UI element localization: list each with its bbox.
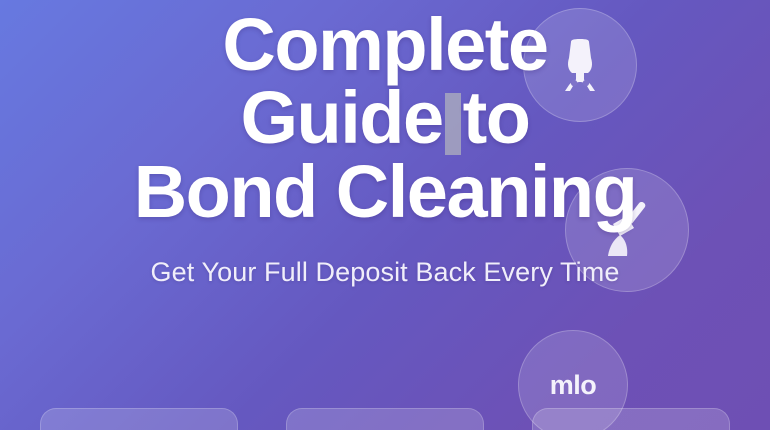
feature-card[interactable]: State-by- (40, 408, 238, 430)
text-caret (445, 93, 461, 155)
page-title-line-1: Complete (0, 8, 770, 81)
feature-card-list: State-by- Step-by- Pro (0, 408, 770, 430)
hero-banner: mlo Complete Guideto Bond Cleaning Get Y… (0, 0, 770, 430)
feature-card[interactable]: Pro (532, 408, 730, 430)
feature-card[interactable]: Step-by- (286, 408, 484, 430)
badge-icon: mlo (550, 372, 597, 399)
page-title-line-2-after: to (463, 76, 530, 159)
hero-text-block: Complete Guideto Bond Cleaning Get Your … (0, 0, 770, 288)
page-title-line-3: Bond Cleaning (0, 155, 770, 228)
page-title-line-2: Guideto (0, 81, 770, 155)
page-title-line-2-before: Guide (240, 76, 442, 159)
page-subtitle: Get Your Full Deposit Back Every Time (0, 257, 770, 288)
